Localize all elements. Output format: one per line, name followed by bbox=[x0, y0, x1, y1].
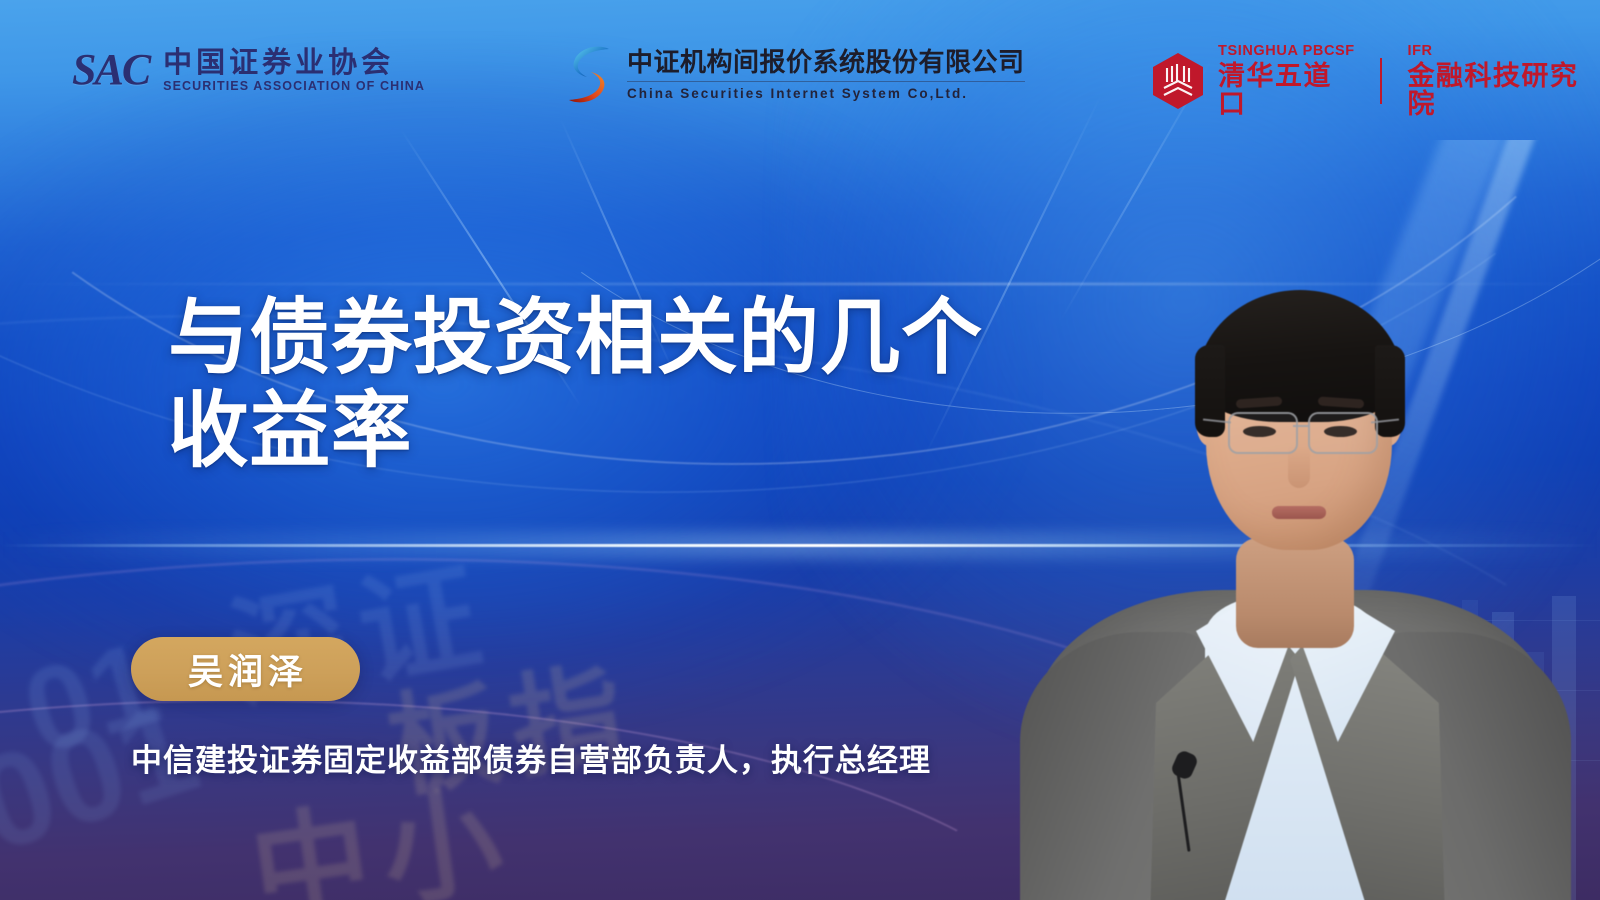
csi-divider bbox=[627, 81, 1025, 82]
speaker-title: 中信建投证券固定收益部债券自营部负责人，执行总经理 bbox=[131, 735, 931, 780]
slide-title: 与债券投资相关的几个 收益率 bbox=[168, 292, 1048, 478]
speaker-name: 吴润泽 bbox=[183, 644, 308, 695]
speaker-name-badge: 吴润泽 bbox=[131, 637, 360, 701]
logo-sac: SAC 中国证券业协会 SECURITIES ASSOCIATION OF CH… bbox=[72, 48, 425, 93]
pbcsf-cn-name: 清华五道口 bbox=[1218, 62, 1356, 119]
csi-cn-name: 中证机构间报价系统股份有限公司 bbox=[627, 46, 1025, 79]
sac-en-name: SECURITIES ASSOCIATION OF CHINA bbox=[163, 80, 425, 93]
sac-cn-name: 中国证券业协会 bbox=[163, 48, 425, 78]
logo-bar: SAC 中国证券业协会 SECURITIES ASSOCIATION OF CH… bbox=[0, 38, 1600, 114]
ifr-en-name: IFR bbox=[1407, 44, 1600, 60]
portrait-edge-fade bbox=[1000, 140, 1600, 900]
sac-wordmark-icon: SAC bbox=[72, 48, 149, 92]
title-line-2: 收益率 bbox=[168, 385, 1022, 478]
csi-en-name: China Securities Internet System Co,Ltd. bbox=[627, 86, 1025, 102]
title-line-1: 与债券投资相关的几个 bbox=[168, 292, 1022, 385]
pbcsf-divider bbox=[1380, 58, 1383, 104]
ifr-cn-name: 金融科技研究院 bbox=[1407, 62, 1600, 119]
tsinghua-hexagon-icon bbox=[1150, 51, 1206, 111]
logo-csi: 中证机构间报价系统股份有限公司 China Securities Interne… bbox=[565, 42, 1025, 106]
speaker-portrait bbox=[1000, 140, 1600, 900]
logo-pbcsf: TSINGHUA PBCSF 清华五道口 IFR 金融科技研究院 bbox=[1150, 44, 1600, 119]
pbcsf-en-name: TSINGHUA PBCSF bbox=[1218, 44, 1356, 60]
csi-swirl-icon bbox=[565, 42, 613, 106]
title-slide: 01 001 深证 板指 中小 bbox=[0, 0, 1600, 900]
